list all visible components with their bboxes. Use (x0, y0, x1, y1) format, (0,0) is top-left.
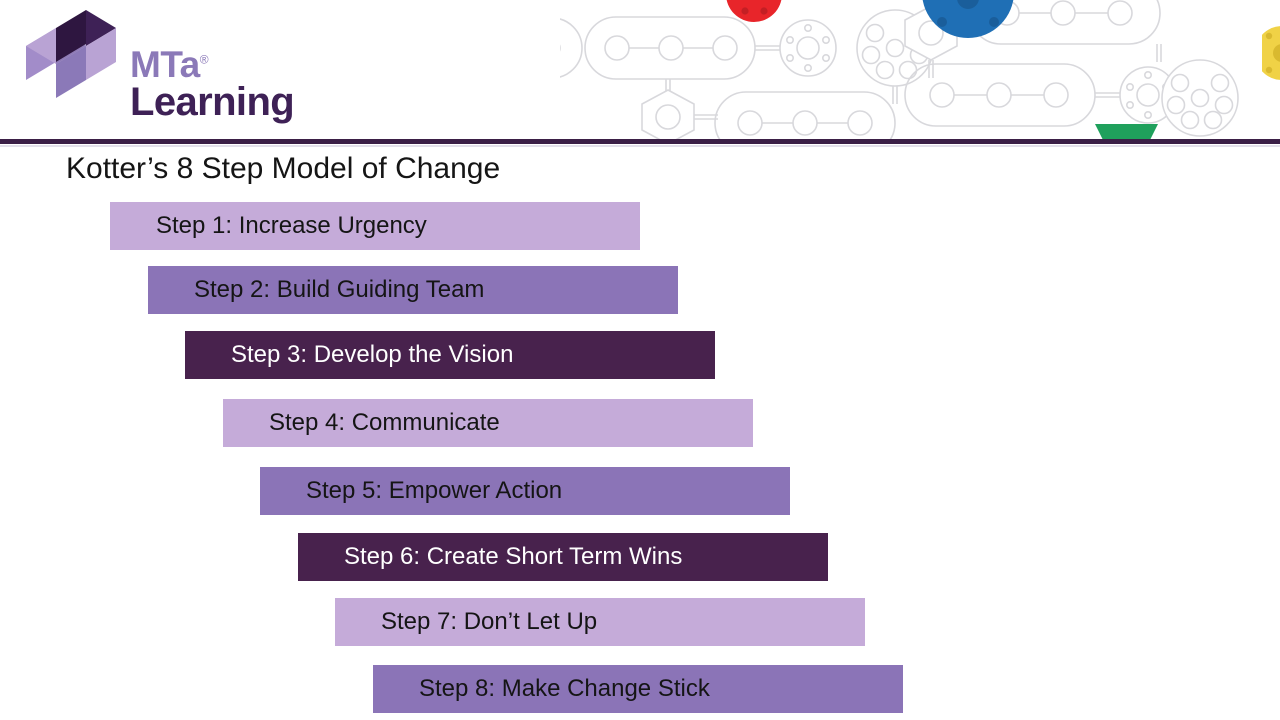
step-label-2: Step 2: Build Guiding Team (194, 278, 484, 302)
step-bar-2[interactable]: Step 2: Build Guiding Team (148, 266, 678, 314)
step-label-8: Step 8: Make Change Stick (419, 677, 710, 701)
step-label-5: Step 5: Empower Action (306, 479, 562, 503)
step-label-4: Step 4: Communicate (269, 411, 500, 435)
step-bar-1[interactable]: Step 1: Increase Urgency (110, 202, 640, 250)
step-label-3: Step 3: Develop the Vision (231, 343, 513, 367)
step-bar-4[interactable]: Step 4: Communicate (223, 399, 753, 447)
step-bar-3[interactable]: Step 3: Develop the Vision (185, 331, 715, 379)
step-label-6: Step 6: Create Short Term Wins (344, 545, 682, 569)
step-label-7: Step 7: Don’t Let Up (381, 610, 597, 634)
step-bar-8[interactable]: Step 8: Make Change Stick (373, 665, 903, 713)
step-bar-7[interactable]: Step 7: Don’t Let Up (335, 598, 865, 646)
step-label-1: Step 1: Increase Urgency (156, 214, 427, 238)
kotter-steps-chart: Step 1: Increase UrgencyStep 2: Build Gu… (0, 0, 1280, 720)
step-bar-5[interactable]: Step 5: Empower Action (260, 467, 790, 515)
step-bar-6[interactable]: Step 6: Create Short Term Wins (298, 533, 828, 581)
